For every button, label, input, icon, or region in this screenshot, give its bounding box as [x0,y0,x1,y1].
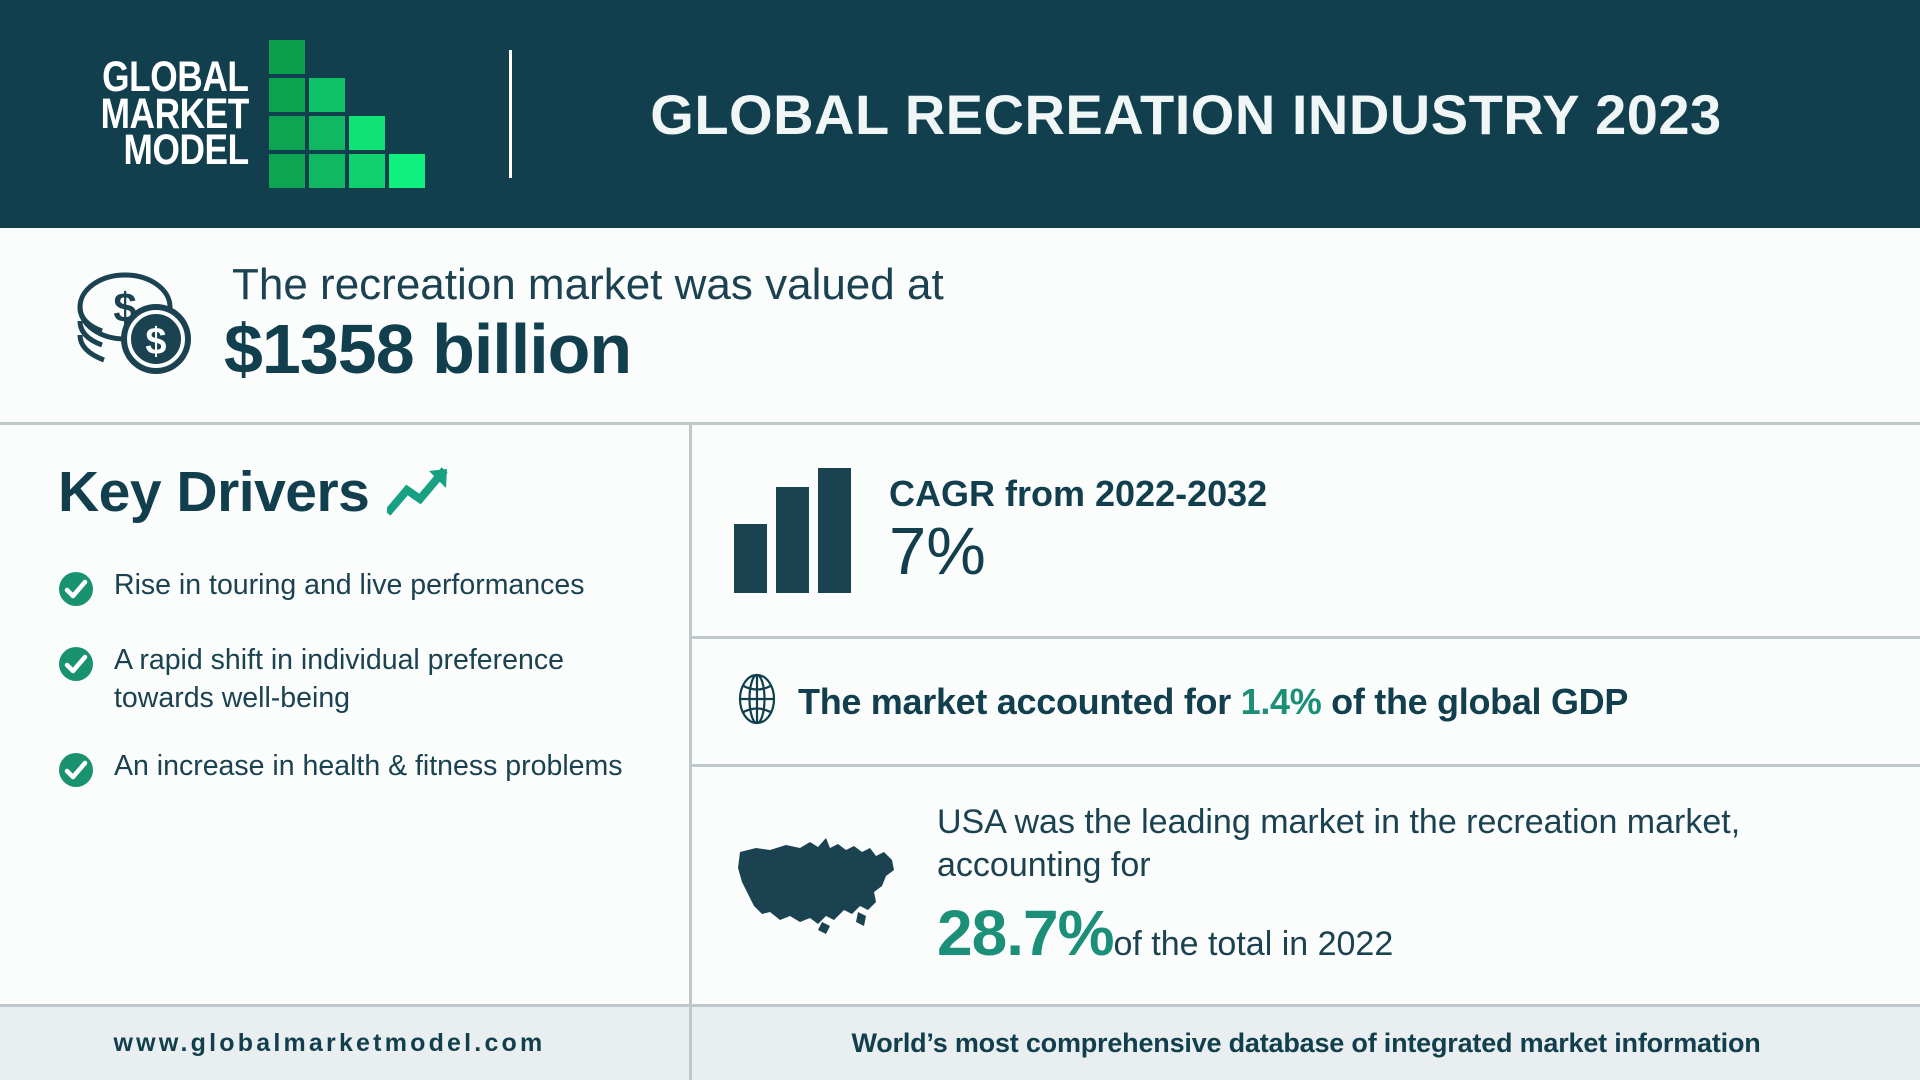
logo-block-row [269,40,425,74]
infographic-page: GLOBAL MARKET MODEL [0,0,1920,1080]
check-circle-icon [58,571,94,612]
logo-wordmark: GLOBAL MARKET MODEL [68,59,249,170]
logo-block-row [269,154,425,188]
footer-tagline-cell: World’s most comprehensive database of i… [692,1007,1920,1080]
logo-block [309,154,345,188]
cagr-text: CAGR from 2022-2032 7% [889,473,1267,587]
footer-website-cell[interactable]: www.globalmarketmodel.com [0,1007,692,1080]
logo-block [269,154,305,188]
logo-block [269,116,305,150]
gdp-row: The market accounted for 1.4% of the glo… [692,639,1920,767]
footer-bar: www.globalmarketmodel.com World’s most c… [0,1004,1920,1080]
page-title: GLOBAL RECREATION INDUSTRY 2023 [512,82,1920,147]
logo-block [309,78,345,112]
logo-line-3: MODEL [124,132,249,169]
logo-block-row [269,78,425,112]
usa-map-icon [734,832,899,945]
usa-percent: 28.7% [937,896,1113,970]
key-drivers-header: Key Drivers [58,459,649,525]
key-driver-text: Rise in touring and live performances [114,567,585,605]
check-circle-icon [58,646,94,687]
key-drivers-list: Rise in touring and live performances A … [58,567,649,793]
usa-text: USA was the leading market in the recrea… [937,801,1767,970]
body-area: Key Drivers Rise in tou [0,425,1920,1004]
cagr-row: CAGR from 2022-2032 7% [692,425,1920,639]
logo-block [349,116,385,150]
logo-blocks-icon [269,40,425,188]
footer-website[interactable]: www.globalmarketmodel.com [114,1029,546,1058]
list-item: An increase in health & fitness problems [58,748,649,793]
gdp-highlight: 1.4% [1241,681,1322,722]
logo-block [389,154,425,188]
trend-up-arrow-icon [387,463,453,522]
logo-block [269,40,305,74]
gdp-suffix: of the global GDP [1321,681,1628,722]
gdp-text: The market accounted for 1.4% of the glo… [798,681,1628,723]
key-driver-text: An increase in health & fitness problems [114,748,623,786]
coins-dollar-icon: $ $ [72,267,202,384]
bar-chart-icon [734,468,851,593]
cagr-value: 7% [889,517,1267,587]
market-value-text: The recreation market was valued at $135… [224,261,944,390]
chart-bar [734,524,767,593]
list-item: A rapid shift in individual preference t… [58,642,649,718]
usa-percent-tail: of the total in 2022 [1113,925,1393,964]
gdp-prefix: The market accounted for [798,681,1241,722]
brand-logo[interactable]: GLOBAL MARKET MODEL [68,40,425,188]
usa-description: USA was the leading market in the recrea… [937,801,1767,886]
key-drivers-panel: Key Drivers Rise in tou [0,425,692,1004]
market-value-band: $ $ The recreation market was valued at … [0,228,1920,425]
globe-icon [734,673,780,730]
market-value-caption: The recreation market was valued at [224,261,944,309]
market-value-amount: $1358 billion [224,309,944,390]
logo-block [309,116,345,150]
logo-block-row [269,116,425,150]
list-item: Rise in touring and live performances [58,567,649,612]
chart-bar [818,468,851,593]
chart-bar [776,487,809,593]
stats-panel: CAGR from 2022-2032 7% [692,425,1920,1004]
footer-tagline: World’s most comprehensive database of i… [851,1028,1760,1059]
key-drivers-title: Key Drivers [58,459,369,525]
key-driver-text: A rapid shift in individual preference t… [114,642,649,718]
svg-text:$: $ [145,321,166,363]
usa-row: USA was the leading market in the recrea… [692,767,1920,1004]
check-circle-icon [58,752,94,793]
logo-block [349,154,385,188]
logo-block [269,78,305,112]
cagr-label: CAGR from 2022-2032 [889,473,1267,515]
usa-percent-row: 28.7% of the total in 2022 [937,896,1767,970]
header-bar: GLOBAL MARKET MODEL [0,0,1920,228]
